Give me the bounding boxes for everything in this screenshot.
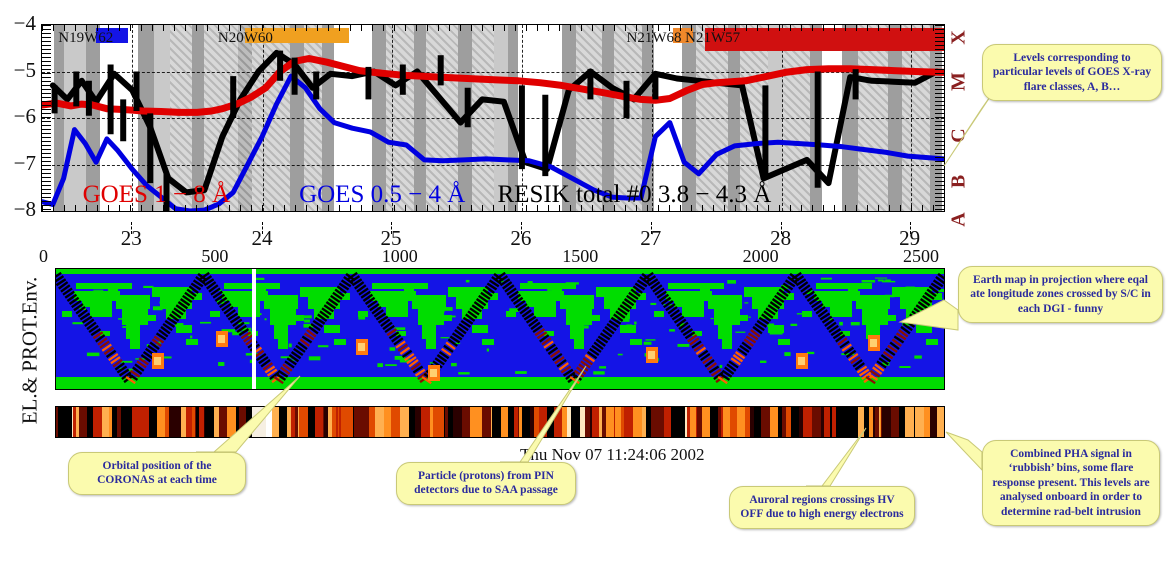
ground-track-segment [726, 373, 727, 375]
map-feature [453, 407, 462, 437]
map-feature [375, 407, 384, 437]
ground-track-segment [409, 356, 410, 358]
main-plot: N19W62N20W60N21W68N21W57 GOES 1 − 8 ÅGOE… [41, 24, 945, 212]
map-feature [735, 332, 745, 333]
ground-track-segment [609, 329, 610, 331]
ground-track-segment [467, 320, 468, 322]
ground-track-segment [931, 292, 932, 294]
ground-track-segment [365, 294, 366, 296]
ground-track-segment [341, 289, 342, 291]
ground-track-segment [337, 295, 338, 297]
ground-track-segment [605, 335, 606, 337]
map-feature [256, 289, 266, 294]
ground-track-segment [219, 297, 220, 299]
ground-track-segment [591, 354, 592, 356]
ground-track-segment [239, 325, 240, 327]
ground-track-segment [548, 344, 549, 346]
ground-track-segment [626, 304, 627, 306]
ground-track-segment [404, 350, 405, 352]
ground-track-segment [766, 317, 767, 319]
map-feature [536, 310, 544, 312]
map-feature [839, 322, 843, 326]
ground-track-segment [315, 326, 316, 328]
map-feature [702, 407, 710, 437]
ground-track-segment [100, 337, 101, 339]
ground-track-segment [457, 335, 458, 337]
map-feature [299, 407, 308, 437]
map-feature [899, 366, 910, 368]
ground-track-segment [831, 325, 832, 327]
ground-track-segment [924, 301, 925, 303]
x-number-tick-label: 500 [201, 246, 228, 267]
ground-track-segment [744, 348, 745, 350]
ground-track-segment [870, 379, 871, 381]
ground-track-segment [406, 353, 407, 355]
ground-track-segment [874, 373, 875, 375]
ground-track-segment [938, 282, 939, 284]
map-feature [677, 344, 689, 347]
ground-track-segment [935, 286, 936, 288]
ground-track-segment [332, 301, 333, 303]
map-feature [648, 269, 796, 274]
ground-track-segment [82, 312, 83, 314]
map-feature [444, 407, 445, 437]
map-feature [501, 407, 508, 437]
ground-track-segment [811, 297, 812, 299]
ground-track-segment [790, 282, 791, 284]
ground-track-segment [620, 314, 621, 316]
map-feature [869, 407, 871, 437]
map-feature [352, 269, 500, 274]
ground-track-segment [235, 319, 236, 321]
map-feature [651, 407, 658, 437]
map-feature [264, 295, 298, 309]
map-feature [448, 407, 453, 437]
ground-track-segment [282, 373, 283, 375]
flare-class-label: X [948, 25, 971, 51]
map-feature [518, 407, 519, 437]
map-feature [98, 304, 105, 306]
ground-track-segment [113, 356, 114, 358]
ground-track-segment [829, 322, 830, 324]
ground-track-segment [108, 350, 109, 352]
ground-track-segment [594, 351, 595, 353]
ground-track-segment [184, 301, 185, 303]
curve-caption: GOES 0.5 − 4 Å [299, 182, 465, 207]
ground-track-segment [578, 373, 579, 375]
ground-track-segment [702, 353, 703, 355]
ground-track-segment [121, 369, 122, 371]
map-feature [73, 407, 76, 437]
map-feature [199, 407, 204, 437]
ground-track-segment [470, 317, 471, 319]
curve-caption: GOES 1 − 8 Å [83, 182, 230, 207]
map-feature [309, 356, 321, 360]
ground-track-segment [565, 369, 566, 371]
ground-track-segment [302, 345, 303, 347]
map-feature [97, 312, 110, 316]
map-feature [720, 365, 723, 368]
ground-track-segment [861, 369, 862, 371]
ground-track-segment [631, 298, 632, 300]
map-feature [925, 407, 928, 437]
map-feature [210, 311, 220, 317]
map-feature [891, 407, 899, 437]
map-feature [116, 295, 150, 309]
ground-track-segment [330, 304, 331, 306]
ground-track-segment [655, 284, 656, 286]
map-feature [822, 299, 852, 307]
ground-track-segment [911, 320, 912, 322]
ground-track-segment [322, 317, 323, 319]
ground-track-segment [65, 288, 66, 290]
map-feature [870, 339, 877, 347]
ground-track-segment [818, 306, 819, 308]
map-feature [547, 288, 556, 291]
ground-track-segment [648, 275, 649, 277]
ground-track-segment [905, 329, 906, 331]
ground-track-segment [681, 322, 682, 324]
ground-track-segment [411, 359, 412, 361]
flare-class-label: A [948, 207, 971, 233]
map-feature [236, 407, 239, 437]
ground-track-segment [942, 276, 943, 278]
map-feature [123, 407, 132, 437]
ground-track-segment [117, 362, 118, 364]
map-feature [358, 316, 365, 320]
ground-track-segment [816, 303, 817, 305]
x-number-tick-label: 2500 [903, 246, 939, 267]
ground-track-segment [356, 281, 357, 283]
ground-track-segment [361, 288, 362, 290]
ground-track-segment [158, 339, 159, 341]
ground-track-segment [739, 354, 740, 356]
ground-track-segment [230, 312, 231, 314]
y-tick-label: −7 [14, 153, 36, 174]
ground-track-segment [450, 345, 451, 347]
map-feature [391, 407, 400, 437]
ground-track-segment [78, 306, 79, 308]
map-feature [386, 307, 408, 317]
ground-track-segment [803, 284, 804, 286]
ground-track-segment [226, 306, 227, 308]
map-feature [926, 339, 938, 345]
map-feature [500, 269, 648, 274]
map-feature [649, 407, 651, 437]
map-feature [62, 311, 72, 317]
ground-track-segment [881, 364, 882, 366]
map-feature [515, 371, 527, 374]
ground-track-segment [513, 294, 514, 296]
map-feature [341, 407, 350, 437]
map-feature [179, 407, 181, 437]
map-feature [93, 407, 102, 437]
map-feature [562, 407, 567, 437]
map-feature [445, 407, 448, 437]
map-feature [385, 364, 397, 366]
ground-track-segment [241, 328, 242, 330]
map-feature [556, 298, 567, 299]
ground-track-segment [250, 341, 251, 343]
map-feature [882, 407, 891, 437]
series-line [42, 59, 944, 113]
map-feature [300, 287, 340, 297]
map-feature [554, 407, 562, 437]
ground-track-segment [417, 369, 418, 371]
ground-track-segment [689, 334, 690, 336]
ground-track-segment [163, 332, 164, 334]
ground-track-segment [837, 334, 838, 336]
map-feature [153, 306, 163, 310]
ground-track-segment [713, 369, 714, 371]
map-feature [441, 337, 450, 338]
ground-track-segment [232, 316, 233, 318]
ground-track-segment [354, 278, 355, 280]
ground-track-segment [607, 332, 608, 334]
ground-track-segment [637, 289, 638, 291]
ground-track-segment [97, 334, 98, 336]
ground-track-segment [106, 347, 107, 349]
map-feature [295, 407, 298, 437]
ground-track-segment [568, 372, 569, 374]
ground-track-segment [476, 307, 477, 309]
top-tick-marks [42, 25, 944, 31]
map-feature [633, 407, 642, 437]
ground-track-segment [583, 367, 584, 369]
ground-track-segment [539, 331, 540, 333]
map-feature [334, 339, 346, 345]
earth-map-panel [55, 268, 945, 390]
map-feature [664, 407, 671, 437]
ground-track-segment [589, 357, 590, 359]
map-feature [257, 313, 262, 315]
ground-track-segment [763, 320, 764, 322]
ground-track-segment [652, 281, 653, 283]
ground-track-segment [846, 347, 847, 349]
map-feature [832, 407, 836, 437]
ground-track-segment [622, 311, 623, 313]
map-feature [892, 287, 932, 297]
callout-orbital-position: Orbital position of the CORONAS at each … [68, 452, 246, 495]
ground-track-segment [285, 370, 286, 372]
map-feature [266, 407, 272, 437]
map-feature [385, 301, 394, 305]
ground-track-segment [933, 289, 934, 291]
ground-track-segment [737, 357, 738, 359]
ground-track-segment [289, 364, 290, 366]
ground-track-segment [813, 300, 814, 302]
map-feature [154, 357, 161, 365]
ground-track-segment [733, 364, 734, 366]
map-feature [710, 407, 718, 437]
map-feature [470, 407, 478, 437]
ground-track-segment [635, 292, 636, 294]
map-feature [275, 323, 279, 327]
ground-track-segment [668, 303, 669, 305]
ground-track-segment [206, 278, 207, 280]
left-tick-marks [42, 25, 51, 211]
map-feature [465, 299, 469, 300]
map-feature [126, 323, 140, 339]
map-feature [170, 407, 179, 437]
map-feature [173, 295, 182, 297]
map-feature [821, 407, 824, 437]
map-feature [332, 407, 336, 437]
ground-track-segment [139, 367, 140, 369]
ground-track-segment [698, 347, 699, 349]
map-feature [599, 407, 602, 437]
map-feature [227, 407, 236, 437]
ground-track-segment [805, 288, 806, 290]
map-feature [721, 407, 723, 437]
map-feature [690, 407, 691, 437]
map-feature [514, 407, 518, 437]
map-feature [160, 301, 167, 303]
ground-track-segment [309, 335, 310, 337]
ground-track-segment [448, 348, 449, 350]
ground-track-segment [400, 344, 401, 346]
ground-track-segment [152, 348, 153, 350]
map-feature [439, 407, 444, 437]
ground-track-segment [324, 314, 325, 316]
ground-track-segment [483, 298, 484, 300]
ground-track-segment [441, 357, 442, 359]
ground-track-segment [633, 295, 634, 297]
ground-track-segment [855, 359, 856, 361]
lower-panel-y-label: EL.& PROT.Env. [2, 268, 28, 440]
ground-track-segment [383, 319, 384, 321]
map-feature [87, 353, 99, 357]
ground-track-segment [298, 351, 299, 353]
map-feature [157, 407, 165, 437]
map-feature [862, 280, 876, 283]
ground-track-segment [378, 312, 379, 314]
main-plot-y-axis-labels: −4−5−6−7−8 [0, 24, 38, 212]
ground-track-segment [779, 298, 780, 300]
map-feature [646, 407, 649, 437]
ground-track-segment [478, 304, 479, 306]
map-feature [645, 339, 655, 340]
ground-track-segment [311, 332, 312, 334]
map-feature [400, 407, 409, 437]
map-feature [685, 407, 687, 437]
map-feature [354, 407, 361, 437]
ground-track-segment [807, 291, 808, 293]
map-feature [265, 318, 267, 320]
ground-track-segment [359, 284, 360, 286]
map-feature [219, 407, 227, 437]
ground-track-segment [269, 369, 270, 371]
map-feature [144, 315, 156, 321]
map-feature [181, 407, 186, 437]
map-feature [509, 308, 519, 312]
ground-track-segment [848, 350, 849, 352]
map-feature [588, 315, 600, 321]
map-feature [770, 407, 778, 437]
map-feature [807, 352, 814, 354]
map-feature [298, 407, 299, 437]
ground-track-segment [326, 311, 327, 313]
ground-track-segment [707, 359, 708, 361]
map-feature [198, 407, 199, 437]
map-feature [682, 307, 704, 317]
ground-track-segment [385, 322, 386, 324]
map-feature [669, 329, 675, 331]
ground-track-segment [914, 317, 915, 319]
map-feature [433, 407, 439, 437]
map-feature [791, 324, 798, 326]
map-feature [186, 407, 192, 437]
lower-panel-y-label-text: EL.& PROT.Env. [18, 261, 43, 441]
ground-track-segment [443, 354, 444, 356]
map-feature [593, 371, 604, 374]
map-feature [350, 407, 353, 437]
ground-track-segment [670, 306, 671, 308]
map-feature [658, 407, 664, 437]
ground-track-segment [187, 298, 188, 300]
map-feature [760, 361, 766, 363]
map-feature [87, 407, 93, 437]
ground-track-segment [193, 289, 194, 291]
ground-track-segment [374, 306, 375, 308]
map-feature [745, 407, 750, 437]
ground-track-segment [613, 323, 614, 325]
map-feature [885, 279, 891, 281]
ground-track-segment [363, 291, 364, 293]
ground-track-segment [759, 326, 760, 328]
map-feature [812, 407, 821, 437]
ground-track-segment [844, 344, 845, 346]
ground-track-segment [102, 341, 103, 343]
ground-track-segment [295, 354, 296, 356]
x-number-tick-label: 1500 [562, 246, 598, 267]
ground-track-segment [679, 319, 680, 321]
ground-track-segment [685, 328, 686, 330]
bottom-tick-marks [42, 205, 944, 211]
ground-track-segment [380, 316, 381, 318]
ground-track-segment [376, 309, 377, 311]
ground-track-segment [84, 316, 85, 318]
map-feature [915, 407, 924, 437]
map-feature [323, 407, 324, 437]
ground-track-segment [842, 341, 843, 343]
ground-track-segment [335, 298, 336, 300]
map-feature [606, 407, 614, 437]
map-feature [837, 284, 841, 287]
ground-track-segment [195, 286, 196, 288]
map-feature [674, 299, 704, 307]
map-feature [462, 407, 470, 437]
map-feature [847, 407, 856, 437]
map-feature [390, 347, 396, 350]
map-feature [928, 407, 930, 437]
map-feature [415, 407, 421, 437]
ground-track-segment [398, 341, 399, 343]
ground-track-segment [198, 282, 199, 284]
map-feature [278, 337, 288, 349]
ground-track-segment [907, 326, 908, 328]
ground-track-segment [785, 289, 786, 291]
x-number-tick-label: 1000 [382, 246, 418, 267]
ground-track-segment [300, 348, 301, 350]
map-feature [204, 407, 205, 437]
callout-saa-particles: Particle (protons) from PIN detectors du… [396, 462, 576, 505]
map-feature [671, 407, 677, 437]
ground-track-segment [280, 376, 281, 378]
ground-track-segment [544, 337, 545, 339]
ground-track-segment [346, 282, 347, 284]
map-feature [697, 407, 702, 437]
